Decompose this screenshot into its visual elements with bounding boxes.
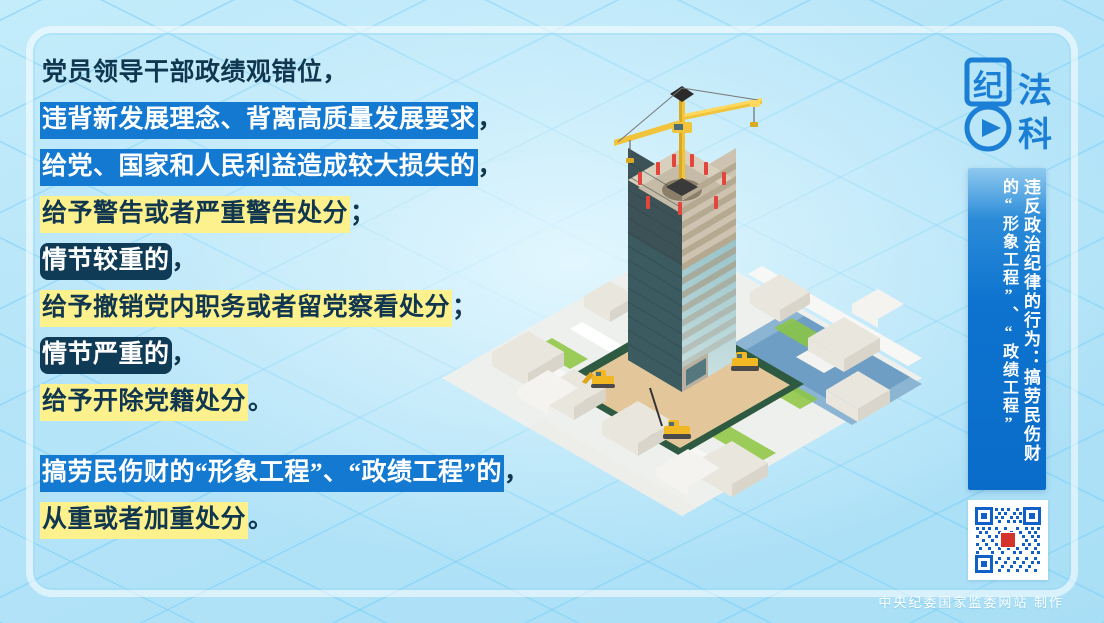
vertical-title-banner: 违反政治纪律的行为：搞劳民伤财 的“形象工程”、“政绩工程” [968, 168, 1046, 490]
center-seal-icon [1001, 533, 1015, 547]
footer-credit: 中央纪委国家监委网站 制作 [878, 592, 1064, 611]
clause-line-7: 给予开除党籍处分。 [40, 387, 640, 417]
play-triangle-icon [982, 119, 1001, 137]
clause-line-4: 情节较重的， [40, 246, 640, 276]
headline-text: 党员领导干部政绩观错位， [40, 55, 350, 92]
clause-punct: 。 [248, 506, 274, 533]
clause-line-9: 从重或者加重处分。 [40, 505, 640, 535]
clause-line-2: 给党、国家和人民利益造成较大损失的， [40, 152, 640, 182]
poster-canvas: 党员领导干部政绩观错位， 违背新发展理念、背离高质量发展要求， 给党、国家和人民… [0, 0, 1104, 623]
penalty-highlight: 给予撤销党内职务或者留党察看处分 [40, 290, 452, 327]
clause-punct: ， [172, 341, 198, 368]
clause-line-6: 情节严重的， [40, 340, 640, 370]
clause-punct: 。 [248, 388, 274, 415]
main-text-block: 党员领导干部政绩观错位， 违背新发展理念、背离高质量发展要求， 给党、国家和人民… [40, 58, 640, 552]
logo-char-ke: 科 [1018, 116, 1052, 154]
severity-pill: 情节严重的 [40, 337, 172, 374]
severity-pill: 情节较重的 [40, 243, 172, 280]
penalty-highlight: 从重或者加重处分 [40, 502, 248, 539]
logo-char-ji: 纪 [973, 70, 1003, 103]
penalty-highlight: 给予开除党籍处分 [40, 384, 248, 421]
clause-line-1: 违背新发展理念、背离高质量发展要求， [40, 105, 640, 135]
clause-punct: ； [452, 294, 478, 321]
logo-char-fa: 法 [1018, 72, 1052, 110]
clause-line-8: 搞劳民伤财的“形象工程”、“政绩工程”的， [40, 458, 640, 488]
clause-punct: ， [504, 459, 530, 486]
clause-punct: ， [478, 106, 504, 133]
jifa-baike-logo[interactable]: 纪 法 科 [961, 50, 1061, 162]
clause-punct: ， [478, 153, 504, 180]
clause-punct: ； [350, 200, 376, 227]
clause-highlight: 搞劳民伤财的“形象工程”、“政绩工程”的 [40, 455, 504, 492]
clause-line-3: 给予警告或者严重警告处分； [40, 199, 640, 229]
clause-highlight: 违背新发展理念、背离高质量发展要求 [40, 102, 478, 139]
clause-punct: ， [172, 247, 198, 274]
clause-line-5: 给予撤销党内职务或者留党察看处分； [40, 293, 640, 323]
headline-line: 党员领导干部政绩观错位， [40, 58, 640, 88]
banner-column-left: 的“形象工程”、“政绩工程” [997, 178, 1019, 484]
penalty-highlight: 给予警告或者严重警告处分 [40, 196, 350, 233]
right-column: 纪 法 科 [955, 50, 1073, 162]
clause-highlight: 给党、国家和人民利益造成较大损失的 [40, 149, 478, 186]
qr-code[interactable] [968, 500, 1048, 580]
banner-column-right: 违反政治纪律的行为：搞劳民伤财 [1019, 178, 1041, 484]
